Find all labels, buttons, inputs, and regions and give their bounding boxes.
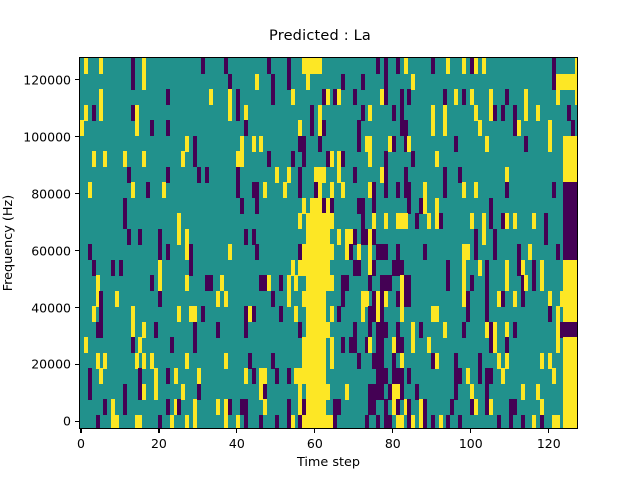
x-tick-label: 80 (385, 436, 401, 451)
x-tick-label: 100 (459, 436, 483, 451)
page-title: Predicted : La (0, 28, 640, 44)
x-tick-label: 60 (307, 436, 323, 451)
x-tick-mark (392, 429, 393, 433)
x-tick-mark (470, 429, 471, 433)
x-axis-label: Time step (79, 455, 578, 470)
y-tick-label: 80000 (31, 186, 71, 201)
x-tick-label: 0 (77, 436, 85, 451)
matplotlib-figure: Predicted : La 0200004000060000800001000… (0, 0, 640, 480)
y-tick-label: 20000 (31, 357, 71, 372)
x-tick-mark (548, 429, 549, 433)
x-tick-label: 120 (537, 436, 561, 451)
x-tick-mark (80, 429, 81, 433)
x-tick-mark (158, 429, 159, 433)
heatmap-image (80, 58, 578, 429)
y-tick-label: 100000 (23, 129, 71, 144)
y-tick-mark (75, 421, 79, 422)
y-tick-label: 120000 (23, 72, 71, 87)
y-tick-mark (75, 79, 79, 80)
x-tick-mark (236, 429, 237, 433)
x-tick-mark (314, 429, 315, 433)
y-tick-label: 40000 (31, 300, 71, 315)
x-tick-label: 40 (229, 436, 245, 451)
y-tick-mark (75, 250, 79, 251)
y-tick-label: 0 (63, 414, 71, 429)
y-tick-mark (75, 364, 79, 365)
y-tick-mark (75, 193, 79, 194)
y-tick-mark (75, 307, 79, 308)
y-tick-label: 60000 (31, 243, 71, 258)
heatmap-axes[interactable] (79, 57, 578, 429)
y-axis-label: Frequency (Hz) (0, 57, 18, 429)
x-tick-label: 20 (151, 436, 167, 451)
y-tick-mark (75, 136, 79, 137)
